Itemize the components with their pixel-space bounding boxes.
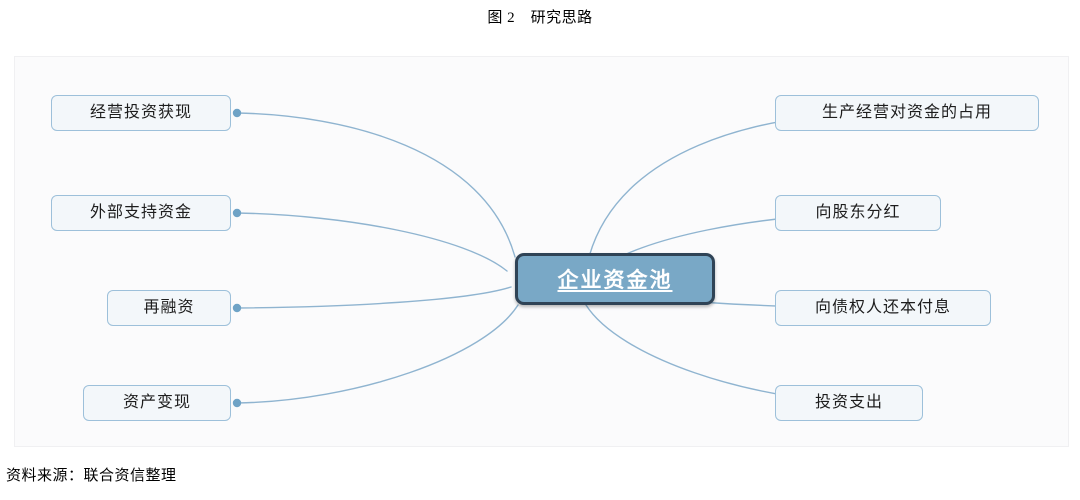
source-note: 资料来源：联合资信整理 (6, 464, 177, 485)
node-label: 资产变现 (123, 395, 191, 411)
dot-external-funds-icon (233, 209, 241, 217)
left-node-1[interactable]: 经营投资获现 (51, 95, 231, 131)
center-node-enterprise-fund-pool[interactable]: 企业资金池 (515, 253, 715, 305)
dot-refinancing-icon (233, 304, 241, 312)
right-node-4[interactable]: 投资支出 (775, 385, 923, 421)
right-node-1[interactable]: 生产经营对资金的占用 (775, 95, 1039, 131)
center-node-label: 企业资金池 (558, 264, 673, 294)
node-label: 再融资 (143, 300, 194, 316)
edge-center-to-external-funds (237, 213, 507, 271)
figure-caption: 图 2 研究思路 (0, 6, 1080, 27)
left-node-3[interactable]: 再融资 (107, 290, 231, 326)
right-node-3[interactable]: 向债权人还本付息 (775, 290, 991, 326)
diagram-canvas: 经营投资获现外部支持资金再融资资产变现 生产经营对资金的占用向股东分红向债权人还… (14, 56, 1069, 447)
edge-center-to-operating-use (589, 113, 867, 257)
node-label: 向债权人还本付息 (815, 300, 951, 316)
node-label: 生产经营对资金的占用 (822, 105, 992, 121)
edge-center-to-refinancing (237, 287, 511, 308)
node-label: 外部支持资金 (90, 205, 192, 221)
edge-center-to-operating-cash (237, 113, 515, 257)
right-node-2[interactable]: 向股东分红 (775, 195, 941, 231)
dot-asset-disposal-icon (233, 399, 241, 407)
node-label: 向股东分红 (815, 205, 900, 221)
left-node-2[interactable]: 外部支持资金 (51, 195, 231, 231)
dot-operating-cash-icon (233, 109, 241, 117)
node-label: 经营投资获现 (90, 105, 192, 121)
left-node-4[interactable]: 资产变现 (83, 385, 231, 421)
node-label: 投资支出 (815, 395, 883, 411)
edge-center-to-asset-disposal (237, 305, 518, 403)
